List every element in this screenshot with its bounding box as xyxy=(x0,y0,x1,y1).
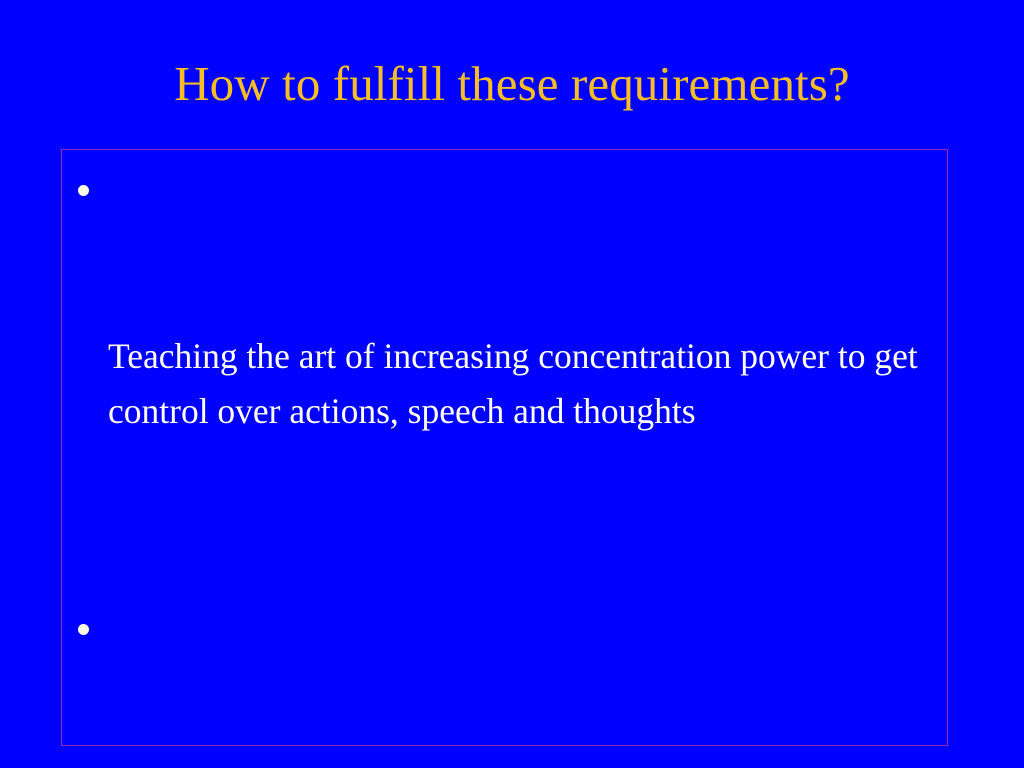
slide-content-placeholder: Teaching the art of increasing concentra… xyxy=(61,149,948,746)
page-title: How to fulfill these requirements? xyxy=(174,58,850,110)
list-item-text: Teaching the art of increasing concentra… xyxy=(108,329,939,439)
bullet-dot-icon xyxy=(78,624,89,635)
list-item: Teaching the art of handling ups and dow… xyxy=(62,603,947,746)
bullet-dot-icon xyxy=(78,185,89,196)
bullet-list: Teaching the art of increasing concentra… xyxy=(62,164,947,746)
presentation-slide: How to fulfill these requirements? Teach… xyxy=(0,0,1024,768)
list-item: Teaching the art of increasing concentra… xyxy=(62,164,947,549)
slide-title-placeholder: How to fulfill these requirements? xyxy=(62,48,962,120)
